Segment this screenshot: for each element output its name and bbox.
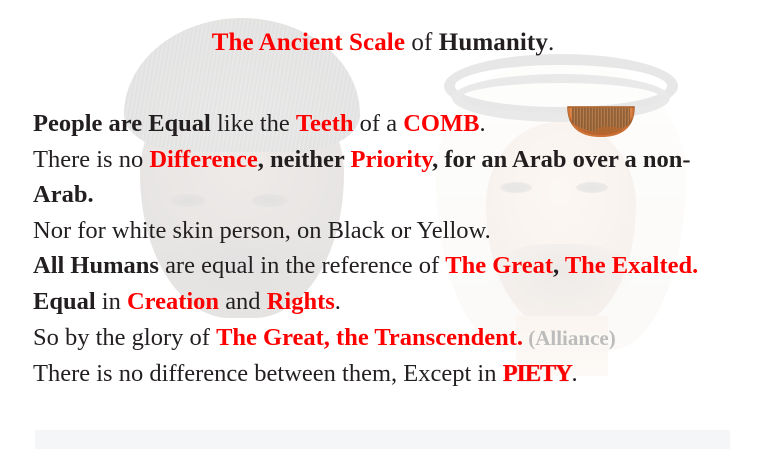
verse-line-2: There is no Difference, neither Priority… (33, 142, 745, 213)
verse-line-7: There is no difference between them, Exc… (33, 356, 745, 392)
verse-line-1: People are Equal like the Teeth of a COM… (33, 106, 745, 142)
line7-period: . (572, 360, 578, 387)
line1-of-a: of a (354, 110, 404, 137)
line4-all-humans: All Humans (33, 252, 159, 279)
poster-canvas: The Ancient Scale of Humanity. People ar… (0, 0, 766, 449)
line2-comma-1: , (258, 146, 270, 173)
line5-creation: Creation (127, 288, 219, 315)
title-segment-ancient-scale: The Ancient Scale (212, 29, 405, 56)
line1-period: . (479, 110, 485, 137)
verse-line-5: Equal in Creation and Rights. (33, 284, 745, 320)
title-segment-period: . (548, 29, 554, 56)
line1-teeth: Teeth (296, 110, 354, 137)
line6-so-by-the-glory-of: So by the glory of (33, 324, 216, 351)
title-segment-of: of (405, 29, 439, 56)
page-title: The Ancient Scale of Humanity. (0, 28, 766, 58)
poster-text-body: The Ancient Scale of Humanity. People ar… (0, 0, 766, 449)
line5-equal: Equal (33, 288, 96, 315)
line4-the-great: The Great (445, 252, 553, 279)
line7-piety: PIETY (503, 360, 572, 387)
line3-nor-for-white-skin: Nor for white skin person, on Black or Y… (33, 217, 491, 244)
verse-block: People are Equal like the Teeth of a COM… (33, 106, 745, 392)
line5-and: and (219, 288, 267, 315)
line1-people-are-equal: People are Equal (33, 110, 211, 137)
line2-priority: Priority (351, 146, 433, 173)
line7-there-is-no-difference: There is no difference between them, Exc… (33, 360, 503, 387)
line5-rights: Rights (267, 288, 335, 315)
line1-like-the: like the (211, 110, 296, 137)
title-segment-humanity: Humanity (439, 29, 548, 56)
line4-the-exalted: The Exalted. (565, 252, 698, 279)
line4-comma: , (553, 252, 565, 279)
line2-difference: Difference (149, 146, 257, 173)
verse-line-6: So by the glory of The Great, the Transc… (33, 320, 745, 357)
line5-period: . (335, 288, 341, 315)
line2-neither: neither (270, 146, 351, 173)
line2-there-is-no: There is no (33, 146, 149, 173)
line6-alliance-note: (Alliance) (523, 326, 616, 350)
verse-line-3: Nor for white skin person, on Black or Y… (33, 213, 745, 249)
line6-the-great-the-transcendent: The Great, the Transcendent. (216, 324, 523, 351)
line4-are-equal-in-reference: are equal in the reference of (159, 252, 445, 279)
line5-in: in (96, 288, 127, 315)
verse-line-4: All Humans are equal in the reference of… (33, 248, 745, 284)
line1-comb: COMB (403, 110, 479, 137)
